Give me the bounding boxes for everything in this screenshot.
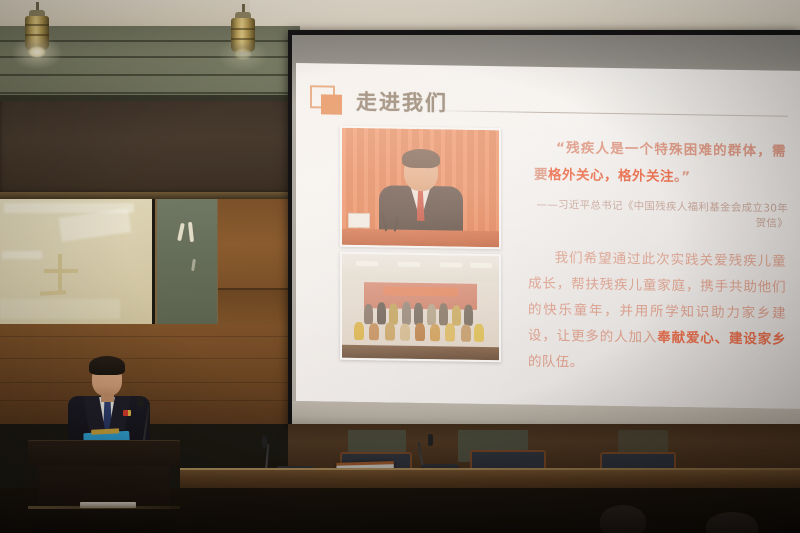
podium-top [28,440,180,466]
table-microphone-right-head [428,434,433,446]
quote-close-mark: ” [681,169,690,185]
wall-panel-green-chalkboard [155,199,219,327]
wall-panel-cream-whiteboard [0,199,152,324]
podium-base [32,510,176,533]
pendant-lamp-left [22,2,52,62]
slide-body-text: 我们希望通过此次实践关爱残疾儿童成长，帮扶残疾儿童家庭，携手共助他们的快乐童年，… [528,245,786,379]
square-accent-icon [310,85,344,116]
body-part-2: 的队伍。 [528,354,584,371]
podium-body [38,466,170,510]
table-microphone-left-head [262,436,267,448]
presentation-scene: 走进我们 [0,0,800,533]
wall-panel-dark-board [0,101,292,195]
quote-attribution: ——习近平总书记《中国残疾人福利基金会成立30年贺信》 [534,197,788,231]
quote-highlight: 格外关心，格外关注 [548,167,674,185]
speaker-hair [89,356,125,375]
podium-trim [28,506,180,509]
heading-divider [426,110,788,117]
conference-table [180,468,800,490]
board-ledge [0,192,292,199]
table-edge-highlight [180,468,800,470]
group-photo [340,252,501,363]
quote-open-mark: “ [556,140,565,156]
slide-heading: 走进我们 [310,85,448,117]
slide-quote: “残疾人是一个特殊困难的群体，需要格外关心，格外关注。” [534,135,786,193]
national-flag-pin-icon [123,410,131,416]
audience-head-left [600,505,646,533]
slide-title: 走进我们 [356,86,448,117]
body-highlight: 奉献爱心、建设家乡 [657,330,786,348]
leader-speech-photo [340,126,501,250]
projected-slide: 走进我们 [296,63,800,409]
pendant-lamp-right [228,4,258,64]
gooseneck-microphone-head [137,396,144,407]
podium [28,440,180,533]
folder-clip [91,428,119,434]
